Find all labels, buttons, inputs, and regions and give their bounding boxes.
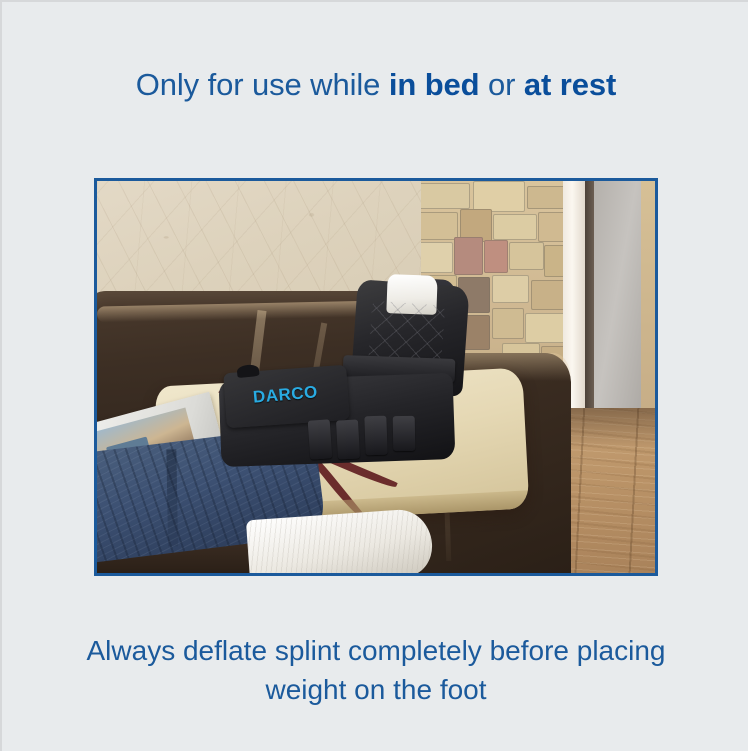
splint-strap-rib [392, 416, 415, 452]
jeans-fold [165, 449, 177, 546]
page-title-emphasis-at-rest: at rest [524, 67, 616, 102]
splint-strap-rib [336, 420, 360, 460]
splint-strap-rib [364, 416, 388, 456]
page-title-emphasis-in-bed: in bed [389, 67, 480, 102]
splint-strap-rib [308, 419, 333, 460]
page-root: Only for use while in bed or at rest [0, 0, 748, 751]
photo-caption: Always deflate splint completely before … [52, 631, 700, 709]
page-title-part1: Only for use while [136, 67, 389, 102]
instruction-photo-frame: DARCO [94, 178, 658, 576]
stone-wall-right-edge [641, 181, 655, 408]
page-title: Only for use while in bed or at rest [2, 65, 748, 105]
instruction-photo: DARCO [97, 181, 655, 573]
page-title-part2: or [480, 67, 524, 102]
white-sock-other-foot [246, 508, 434, 573]
